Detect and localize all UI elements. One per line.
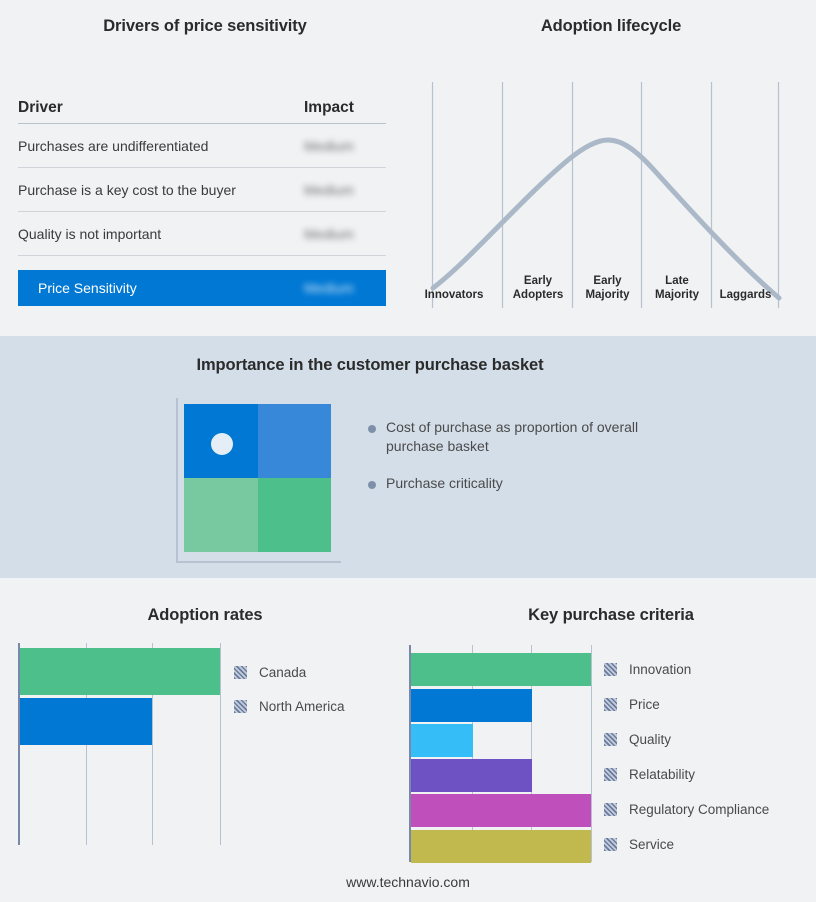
- adoption-rates-legend: Canada North America: [234, 665, 345, 733]
- table-row: Purchases are undifferentiated Medium: [18, 124, 386, 168]
- legend-label: Regulatory Compliance: [629, 802, 769, 817]
- legend-label: Quality: [629, 732, 671, 747]
- legend-item: Price: [604, 697, 769, 712]
- legend-item: North America: [234, 699, 345, 714]
- legend-label: Purchase criticality: [386, 474, 503, 493]
- gridline: [591, 645, 592, 862]
- legend-label: North America: [259, 699, 345, 714]
- driver-name: Quality is not important: [18, 226, 304, 242]
- bar-price: [411, 689, 532, 722]
- bar-innovation: [411, 653, 591, 686]
- summary-impact-value: Medium: [304, 280, 386, 296]
- purchase-basket-matrix: [184, 404, 331, 552]
- bar-canada: [20, 648, 220, 695]
- adoption-lifecycle-chart: Innovators Early Adopters Early Majority…: [410, 70, 816, 315]
- legend-swatch-icon: [234, 700, 247, 713]
- table-row: Quality is not important Medium: [18, 212, 386, 256]
- matrix-quadrant-bottom-left: [184, 478, 258, 552]
- legend-swatch-icon: [604, 768, 617, 781]
- legend-item: Regulatory Compliance: [604, 802, 769, 817]
- legend-swatch-icon: [604, 733, 617, 746]
- adoption-rates-title: Adoption rates: [0, 606, 410, 625]
- bar-regulatory-compliance: [411, 794, 591, 827]
- price-sensitivity-summary-row: Price Sensitivity Medium: [18, 270, 386, 306]
- legend-label: Relatability: [629, 767, 695, 782]
- lifecycle-label-innovators: Innovators: [406, 288, 502, 302]
- bar-relatability: [411, 759, 532, 792]
- importance-panel-title: Importance in the customer purchase bask…: [0, 356, 740, 375]
- legend-label: Price: [629, 697, 660, 712]
- importance-legend: Cost of purchase as proportion of overal…: [368, 418, 668, 511]
- legend-item: Purchase criticality: [368, 474, 668, 493]
- bar-north-america: [20, 698, 152, 745]
- table-row: Purchase is a key cost to the buyer Medi…: [18, 168, 386, 212]
- driver-name: Purchase is a key cost to the buyer: [18, 182, 304, 198]
- matrix-x-axis: [176, 561, 341, 563]
- legend-item: Canada: [234, 665, 345, 680]
- legend-label: Service: [629, 837, 674, 852]
- bar-quality: [411, 724, 473, 757]
- drivers-table: Driver Impact Purchases are undifferenti…: [18, 92, 386, 256]
- summary-label: Price Sensitivity: [18, 280, 304, 296]
- key-purchase-criteria-chart: [409, 645, 594, 862]
- table-header-row: Driver Impact: [18, 92, 386, 124]
- driver-name: Purchases are undifferentiated: [18, 138, 304, 154]
- legend-item: Service: [604, 837, 769, 852]
- legend-swatch-icon: [234, 666, 247, 679]
- legend-label: Innovation: [629, 662, 691, 677]
- lifecycle-label-early-majority: Early Majority: [573, 274, 642, 302]
- bullet-icon: [368, 481, 376, 489]
- matrix-position-marker: [211, 433, 233, 455]
- legend-label: Canada: [259, 665, 306, 680]
- legend-label: Cost of purchase as proportion of overal…: [386, 418, 646, 456]
- footer-url: www.technavio.com: [0, 874, 816, 890]
- impact-value: Medium: [304, 226, 386, 242]
- bar-service: [411, 830, 591, 863]
- legend-swatch-icon: [604, 803, 617, 816]
- column-header-driver: Driver: [18, 99, 304, 117]
- matrix-quadrant-top-right: [258, 404, 332, 478]
- legend-swatch-icon: [604, 663, 617, 676]
- adoption-rates-chart: [18, 643, 228, 845]
- legend-swatch-icon: [604, 698, 617, 711]
- drivers-panel-title: Drivers of price sensitivity: [0, 17, 410, 36]
- legend-swatch-icon: [604, 838, 617, 851]
- lifecycle-label-early-adopters: Early Adopters: [503, 274, 573, 302]
- matrix-y-axis: [176, 398, 178, 563]
- infographic-page: Drivers of price sensitivity Driver Impa…: [0, 0, 816, 902]
- lifecycle-label-laggards: Laggards: [712, 288, 779, 302]
- legend-item: Quality: [604, 732, 769, 747]
- legend-item: Innovation: [604, 662, 769, 677]
- gridline: [220, 643, 221, 845]
- legend-item: Cost of purchase as proportion of overal…: [368, 418, 668, 456]
- bullet-icon: [368, 425, 376, 433]
- impact-value: Medium: [304, 182, 386, 198]
- matrix-quadrant-bottom-right: [258, 478, 332, 552]
- lifecycle-label-late-majority: Late Majority: [642, 274, 712, 302]
- key-purchase-criteria-title: Key purchase criteria: [406, 606, 816, 625]
- legend-item: Relatability: [604, 767, 769, 782]
- column-header-impact: Impact: [304, 99, 386, 117]
- impact-value: Medium: [304, 138, 386, 154]
- key-purchase-criteria-legend: Innovation Price Quality Relatability Re…: [604, 662, 769, 872]
- lifecycle-panel-title: Adoption lifecycle: [406, 17, 816, 36]
